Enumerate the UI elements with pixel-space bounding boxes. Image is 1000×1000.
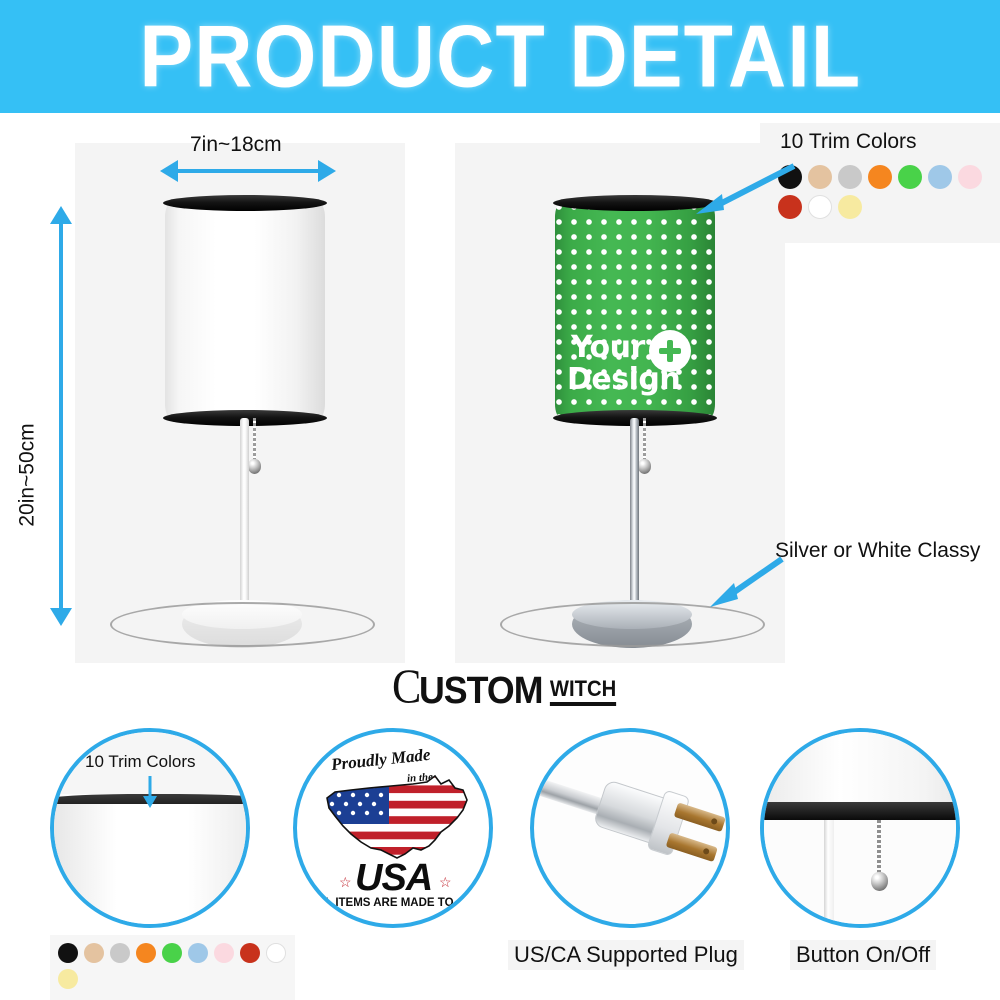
plug-prong-top	[674, 802, 726, 832]
product-stage: Your Design 7in~18cm 20in~50cm 10 Trim C…	[0, 113, 1000, 720]
trim-swatch-dark-red[interactable]	[240, 943, 260, 963]
logo-witch-text: WITCH	[550, 678, 616, 706]
usa-star-right: ☆	[439, 874, 452, 891]
feature-switch-caption: Button On/Off	[790, 940, 936, 970]
trim-swatch-yellow[interactable]	[58, 969, 78, 989]
trim-swatch-gray[interactable]	[838, 165, 862, 189]
design-text-line1: Your	[571, 333, 645, 364]
lamp-white	[0, 113, 420, 673]
usa-star-left: ☆	[339, 874, 352, 891]
pull-chain-white[interactable]	[253, 418, 256, 461]
trim-swatch-light-blue[interactable]	[188, 943, 208, 963]
feature-circle-made-in-usa: Proudly Made in the	[293, 728, 493, 928]
trim-color-swatches-top	[778, 165, 1000, 219]
base-finish-callout-label: Silver or White Classy	[775, 539, 980, 563]
trim-color-swatches-bottom	[58, 943, 290, 989]
lamp-pole-white	[240, 418, 249, 623]
lampshade-green-custom: Your Design	[555, 203, 715, 418]
trim-swatch-tan[interactable]	[84, 943, 104, 963]
pull-chain-closeup[interactable]	[877, 820, 881, 875]
trim-swatch-pink[interactable]	[214, 943, 234, 963]
trim-swatch-green[interactable]	[162, 943, 182, 963]
trim-swatch-gray[interactable]	[110, 943, 130, 963]
page-header-banner: PRODUCT DETAIL	[0, 0, 1000, 113]
feature-circle-plug	[530, 728, 730, 928]
power-cord-white	[110, 602, 375, 647]
pull-chain-ball-white[interactable]	[248, 459, 261, 474]
lampshade-surface	[165, 203, 325, 418]
trim-swatch-orange[interactable]	[868, 165, 892, 189]
feature-circle-switch	[760, 728, 960, 928]
trim-swatch-green[interactable]	[898, 165, 922, 189]
trim-swatch-tan[interactable]	[808, 165, 832, 189]
trim-colors-down-arrow	[138, 776, 162, 810]
width-arrow-left	[160, 160, 178, 182]
height-dimension-label: 20in~50cm	[16, 423, 40, 526]
usa-badge-subtitle: ALL ITEMS ARE MADE TO ORDER!	[310, 897, 493, 909]
base-finish-arrow	[700, 553, 790, 613]
pull-chain-ball-silver[interactable]	[638, 459, 651, 474]
height-arrow-down	[50, 608, 72, 626]
logo-custom-text: USTOM	[419, 673, 543, 709]
brand-logo: C USTOM WITCH	[392, 665, 619, 709]
width-arrow-right	[318, 160, 336, 182]
width-dimension-label: 7in~18cm	[190, 133, 282, 157]
shade-closeup	[50, 804, 250, 928]
trim-swatch-pink[interactable]	[958, 165, 982, 189]
feature-trim-colors-label: 10 Trim Colors	[85, 752, 196, 772]
design-text-line2: Design	[567, 365, 680, 396]
lamp-pole-silver	[630, 418, 639, 623]
trim-closeup	[760, 802, 960, 820]
lampshade-white	[165, 203, 325, 418]
logo-c-glyph: C	[392, 663, 409, 711]
trim-swatch-light-blue[interactable]	[928, 165, 952, 189]
switch-backdrop	[760, 820, 960, 928]
pole-closeup	[824, 820, 834, 928]
plug-prong-bottom	[666, 832, 718, 862]
usa-badge-title: USA	[355, 857, 432, 900]
trim-swatch-orange[interactable]	[136, 943, 156, 963]
trim-swatch-white[interactable]	[266, 943, 286, 963]
height-arrow-up	[50, 206, 72, 224]
pull-chain-silver[interactable]	[643, 418, 646, 461]
trim-swatch-white[interactable]	[808, 195, 832, 219]
lampshade-top-trim	[163, 195, 327, 211]
width-dimension-line	[178, 169, 318, 173]
trim-colors-arrow	[690, 158, 800, 218]
page-title: PRODUCT DETAIL	[139, 6, 861, 106]
height-dimension-line	[59, 223, 63, 608]
trim-swatch-black[interactable]	[58, 943, 78, 963]
shade-bottom-closeup	[760, 728, 960, 804]
pull-chain-ball-closeup[interactable]	[871, 872, 888, 891]
trim-colors-callout-label: 10 Trim Colors	[780, 130, 917, 154]
trim-swatch-yellow[interactable]	[838, 195, 862, 219]
usa-map-flag-icon	[317, 770, 477, 870]
feature-plug-caption: US/CA Supported Plug	[508, 940, 744, 970]
